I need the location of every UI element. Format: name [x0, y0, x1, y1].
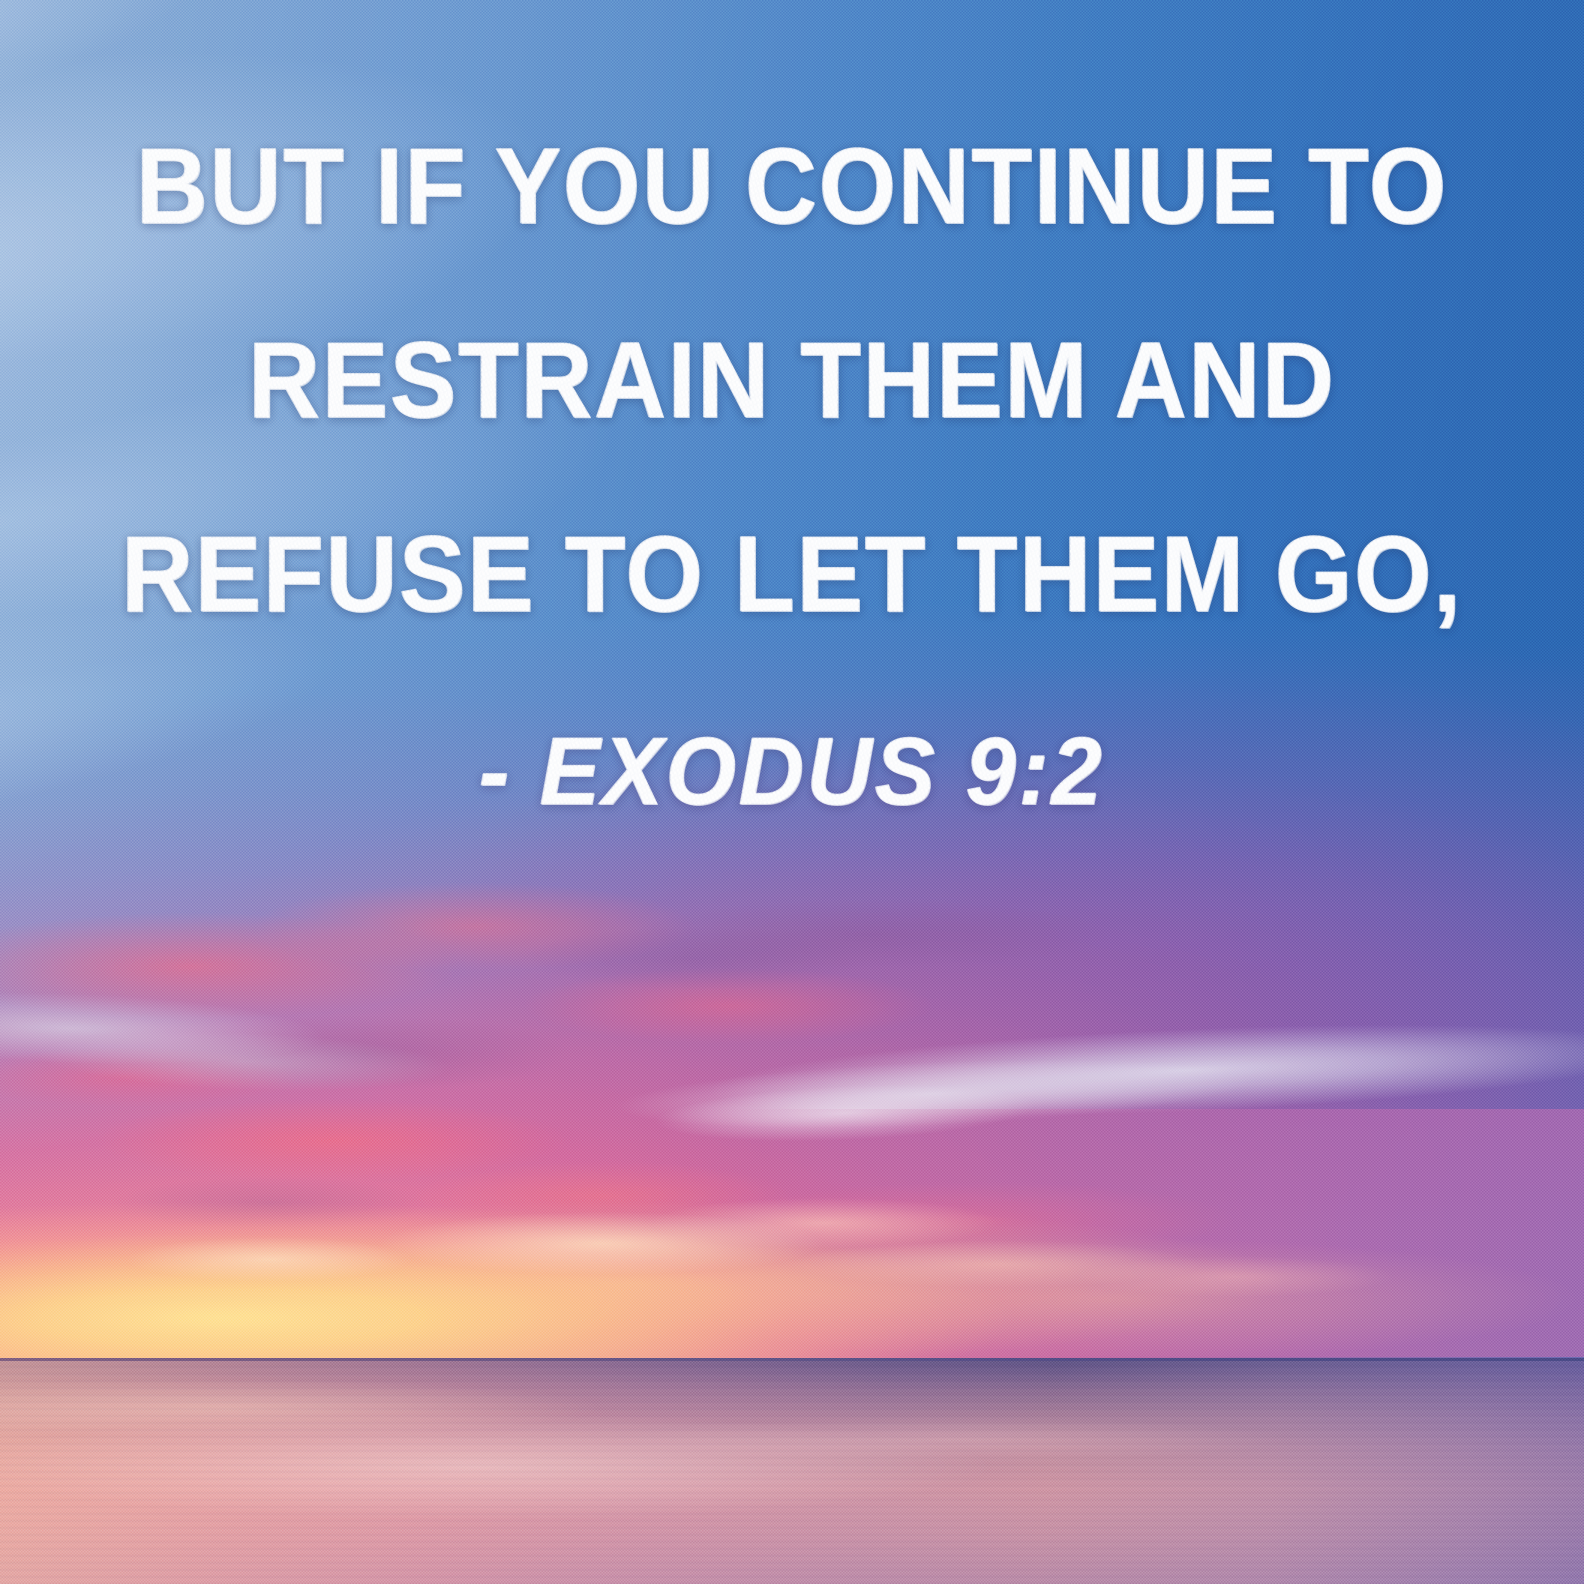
verse-reference: - EXODUS 9:2: [479, 724, 1105, 820]
verse-line-1: BUT IF YOU CONTINUE TO: [136, 132, 1448, 240]
verse-line-2: RESTRAIN THEM AND: [248, 326, 1335, 434]
verse-text-block: BUT IF YOU CONTINUE TO RESTRAIN THEM AND…: [0, 0, 1584, 1584]
verse-line-3: REFUSE TO LET THEM GO,: [121, 520, 1462, 628]
verse-image: BUT IF YOU CONTINUE TO RESTRAIN THEM AND…: [0, 0, 1584, 1584]
